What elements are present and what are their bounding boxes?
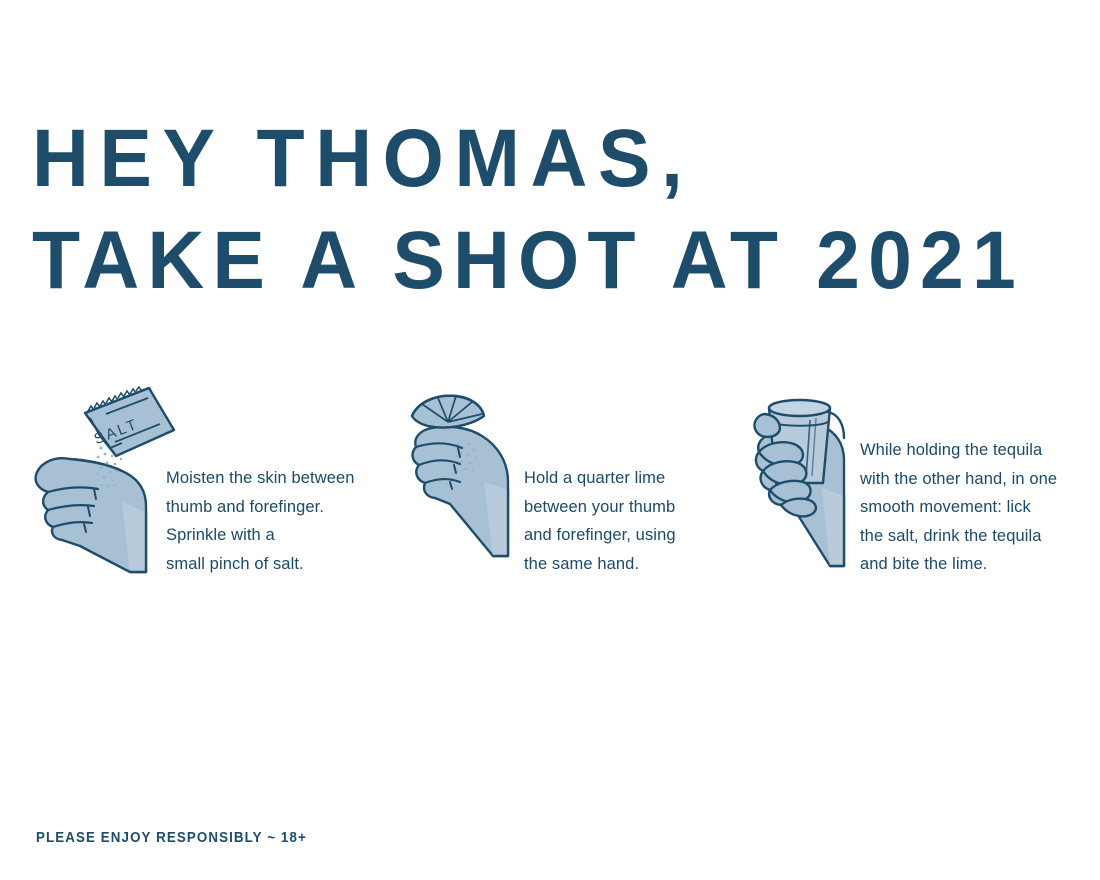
step-tequila-line-1: While holding the tequila	[860, 436, 1085, 465]
step-tequila-line-4: the salt, drink the tequila	[860, 522, 1085, 551]
step-tequila-line-3: smooth movement: lick	[860, 493, 1085, 522]
instruction-steps: SALT Moisten the skin between thumb and …	[0, 386, 1100, 586]
headline-line-2: TAKE A SHOT AT 2021	[32, 210, 1030, 312]
page-title: HEY THOMAS, TAKE A SHOT AT 2021	[32, 108, 1072, 312]
step-lime: Hold a quarter lime between your thumb a…	[398, 386, 698, 586]
step-salt-line-3: Sprinkle with a	[166, 521, 381, 550]
step-lime-line-3: and forefinger, using	[524, 521, 714, 550]
step-salt-line-1: Moisten the skin between	[166, 464, 381, 493]
step-lime-line-2: between your thumb	[524, 493, 714, 522]
headline-line-1: HEY THOMAS,	[32, 108, 1030, 210]
step-lime-text: Hold a quarter lime between your thumb a…	[524, 464, 714, 578]
hand-holding-shot-glass-icon	[742, 386, 872, 581]
hand-with-salt-packet-icon: SALT	[22, 386, 182, 581]
step-salt: SALT Moisten the skin between thumb and …	[22, 386, 372, 586]
step-tequila-text: While holding the tequila with the other…	[860, 436, 1085, 579]
responsibility-disclaimer: PLEASE ENJOY RESPONSIBLY ~ 18+	[36, 830, 307, 846]
step-salt-line-2: thumb and forefinger.	[166, 493, 381, 522]
step-tequila-line-2: with the other hand, in one	[860, 465, 1085, 494]
step-tequila-line-5: and bite the lime.	[860, 550, 1085, 579]
step-salt-text: Moisten the skin between thumb and foref…	[166, 464, 381, 578]
step-lime-line-4: the same hand.	[524, 550, 714, 579]
hand-holding-lime-wedge-icon	[398, 386, 538, 571]
step-tequila: While holding the tequila with the other…	[742, 386, 1072, 586]
step-lime-line-1: Hold a quarter lime	[524, 464, 714, 493]
step-salt-line-4: small pinch of salt.	[166, 550, 381, 579]
poster-canvas: HEY THOMAS, TAKE A SHOT AT 2021	[0, 0, 1100, 880]
